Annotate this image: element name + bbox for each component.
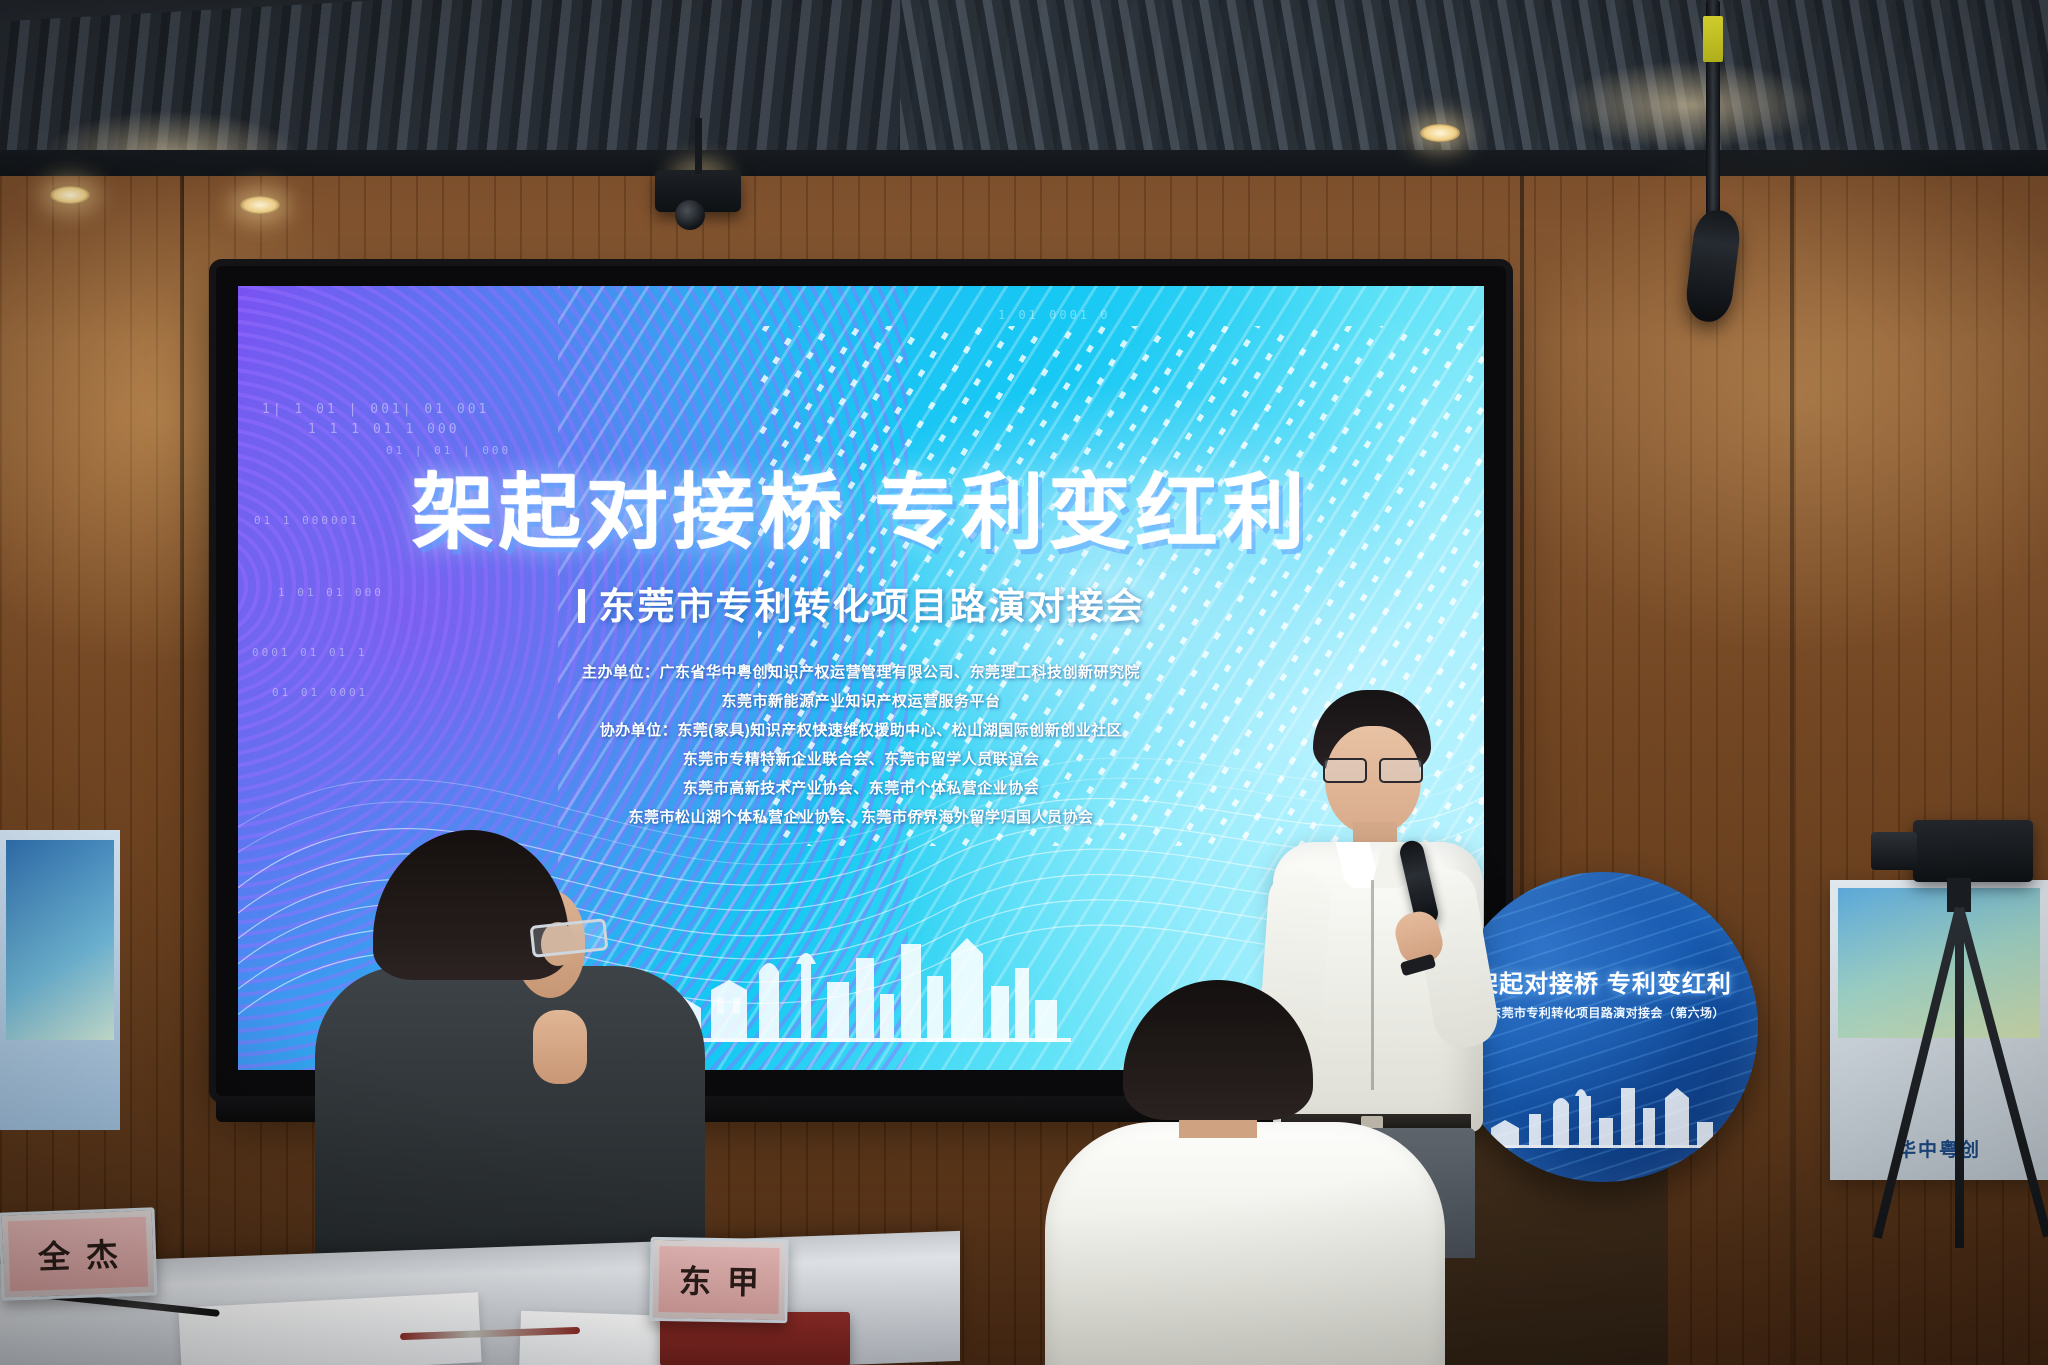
audience-left-hand [533, 1010, 587, 1084]
name-placard-text: 东甲 [663, 1256, 776, 1304]
ceiling-projector [655, 170, 741, 212]
organizer-line: 主办单位：广东省华中粤创知识产权运营管理有限公司、东莞理工科技创新研究院 [238, 658, 1484, 687]
wall-seam [1790, 176, 1794, 1365]
binary-decor: 1| 1 01 | 001| 01 001 [262, 402, 489, 417]
downlight [240, 196, 280, 214]
downlight [50, 186, 90, 204]
eyeglasses-icon [1323, 758, 1423, 780]
audience-person-center [1075, 980, 1405, 1365]
boom-label-tag [1703, 16, 1723, 62]
wall-warm-light-right [1480, 136, 2048, 656]
camera-tripod [1885, 820, 2048, 1250]
left-board-image [6, 840, 114, 1040]
conference-room-photo: 1| 1 01 | 001| 01 001 1 1 1 01 1 000 01 … [0, 0, 2048, 1365]
wall-seam [180, 176, 184, 1365]
name-placard-inner: 东甲 [658, 1246, 779, 1314]
subtitle-accent-bar [578, 589, 585, 623]
camera-lens-icon [1871, 832, 1917, 870]
tripod-leg [1955, 907, 2048, 1238]
city-skyline-icon [651, 924, 1071, 1042]
audience-center-hair [1123, 980, 1313, 1120]
tripod-leg [1873, 907, 1964, 1239]
audience-left-hair [373, 830, 569, 980]
slide-subtitle: 东莞市专利转化项目路演对接会 [238, 576, 1484, 630]
left-display-board [0, 830, 120, 1130]
downlight [1420, 124, 1460, 142]
binary-decor: 1 01 0001 0 [998, 308, 1110, 322]
slide-subtitle-text: 东莞市专利转化项目路演对接会 [599, 586, 1145, 627]
slide-title: 架起对接桥 专利变红利 [238, 446, 1484, 565]
podium-sign-subtitle-text: 东莞市专利转化项目路演对接会（第六场） [1489, 1006, 1725, 1020]
audience-center-body [1045, 1122, 1445, 1365]
microphone-boom-pole [1706, 0, 1720, 226]
tripod-leg [1955, 908, 1964, 1248]
projector-mount-arm [695, 118, 702, 174]
eyeglasses-icon [530, 918, 609, 958]
name-placard-text: 全杰 [21, 1229, 135, 1279]
binary-decor: 1 1 1 01 1 000 [308, 422, 460, 437]
video-camera-icon [1913, 820, 2033, 882]
name-placard-inner: 全杰 [8, 1217, 148, 1292]
projector-lens-icon [675, 200, 705, 230]
name-placard: 全杰 [0, 1207, 157, 1300]
name-placard: 东甲 [649, 1237, 788, 1323]
